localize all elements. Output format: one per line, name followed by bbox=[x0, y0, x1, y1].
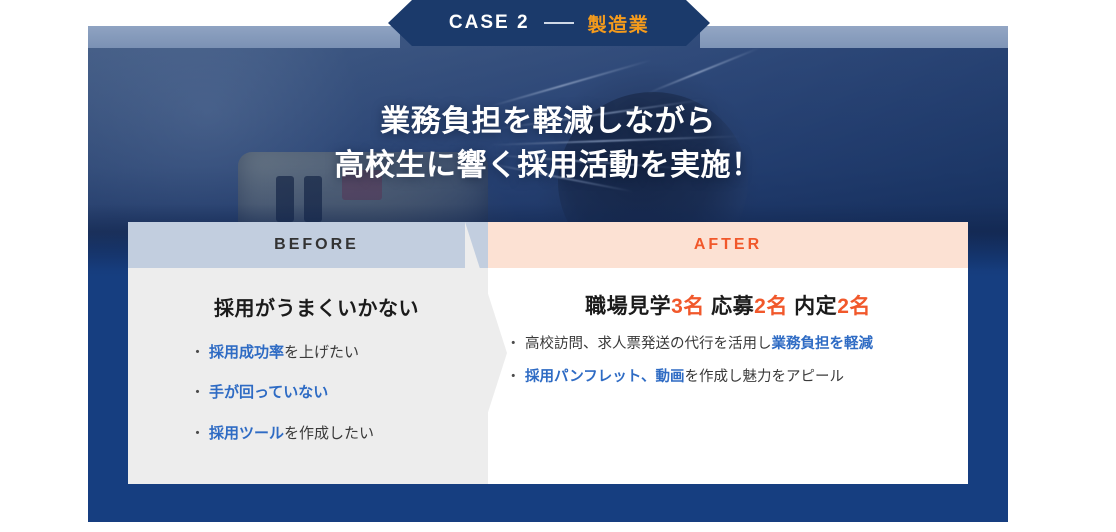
case-industry-label: 製造業 bbox=[588, 10, 650, 37]
bullet-highlight-text: 採用パンフレット、動画 bbox=[525, 369, 685, 385]
bullet-highlight-text: 手が回っていない bbox=[209, 384, 328, 401]
bullet-rest-text: を上げたい bbox=[284, 344, 359, 361]
after-title-text: 応募 bbox=[705, 295, 754, 318]
after-body: 職場見学3名 応募2名 内定2名 高校訪問、求人票発送の代行を活用し業務負担を軽… bbox=[488, 268, 968, 390]
after-title-text: 職場見学 bbox=[585, 295, 671, 318]
after-title-count: 2名 bbox=[754, 295, 788, 318]
after-title: 職場見学3名 応募2名 内定2名 bbox=[510, 290, 946, 320]
case-banner-wrapper: CASE 2 製造業 bbox=[0, 0, 1116, 48]
headline: 業務負担を軽減しながら 高校生に響く採用活動を実施！ bbox=[88, 100, 1008, 187]
after-title-text: 内定 bbox=[788, 295, 837, 318]
bullet-highlight-text: 採用ツール bbox=[209, 425, 284, 442]
list-item: 採用成功率を上げたい bbox=[194, 341, 487, 365]
bullet-lead-text: 高校訪問、求人票発送の代行を活用し bbox=[525, 336, 772, 352]
headline-line-1: 業務負担を軽減しながら bbox=[88, 100, 1008, 144]
case-number-label: CASE 2 bbox=[449, 12, 530, 34]
after-bullet-list: 高校訪問、求人票発送の代行を活用し業務負担を軽減採用パンフレット、動画を作成し魅… bbox=[510, 332, 946, 390]
before-header-label: BEFORE bbox=[274, 236, 359, 254]
list-item: 手が回っていない bbox=[194, 381, 487, 405]
after-header: AFTER bbox=[488, 222, 968, 268]
bullet-highlight-text: 業務負担を軽減 bbox=[772, 336, 874, 352]
headline-line-2: 高校生に響く採用活動を実施！ bbox=[88, 144, 1008, 188]
before-after-panels: BEFORE 採用がうまくいかない 採用成功率を上げたい手が回っていない採用ツー… bbox=[88, 222, 1008, 484]
before-panel: BEFORE 採用がうまくいかない 採用成功率を上げたい手が回っていない採用ツー… bbox=[128, 222, 505, 484]
before-header: BEFORE bbox=[128, 222, 505, 268]
before-body: 採用がうまくいかない 採用成功率を上げたい手が回っていない採用ツールを作成したい bbox=[128, 268, 505, 462]
case-banner: CASE 2 製造業 bbox=[388, 0, 710, 46]
before-title: 採用がうまくいかない bbox=[146, 292, 487, 321]
after-title-count: 3名 bbox=[671, 295, 705, 318]
list-item: 採用パンフレット、動画を作成し魅力をアピール bbox=[510, 365, 946, 390]
banner-dash-icon bbox=[544, 22, 574, 24]
case-card: 業務負担を軽減しながら 高校生に響く採用活動を実施！ BEFORE 採用がうまく… bbox=[88, 32, 1008, 522]
bullet-rest-text: を作成したい bbox=[284, 425, 374, 442]
bullet-highlight-text: 採用成功率 bbox=[209, 344, 284, 361]
banner-wing-left bbox=[88, 26, 400, 48]
list-item: 採用ツールを作成したい bbox=[194, 422, 487, 446]
list-item: 高校訪問、求人票発送の代行を活用し業務負担を軽減 bbox=[510, 332, 946, 357]
bullet-rest-text: を作成し魅力をアピール bbox=[685, 369, 845, 385]
after-header-label: AFTER bbox=[694, 236, 762, 254]
after-title-count: 2名 bbox=[837, 295, 871, 318]
after-panel: AFTER 職場見学3名 応募2名 内定2名 高校訪問、求人票発送の代行を活用し… bbox=[488, 222, 968, 484]
before-bullet-list: 採用成功率を上げたい手が回っていない採用ツールを作成したい bbox=[194, 341, 487, 446]
banner-wing-right bbox=[700, 26, 1008, 48]
